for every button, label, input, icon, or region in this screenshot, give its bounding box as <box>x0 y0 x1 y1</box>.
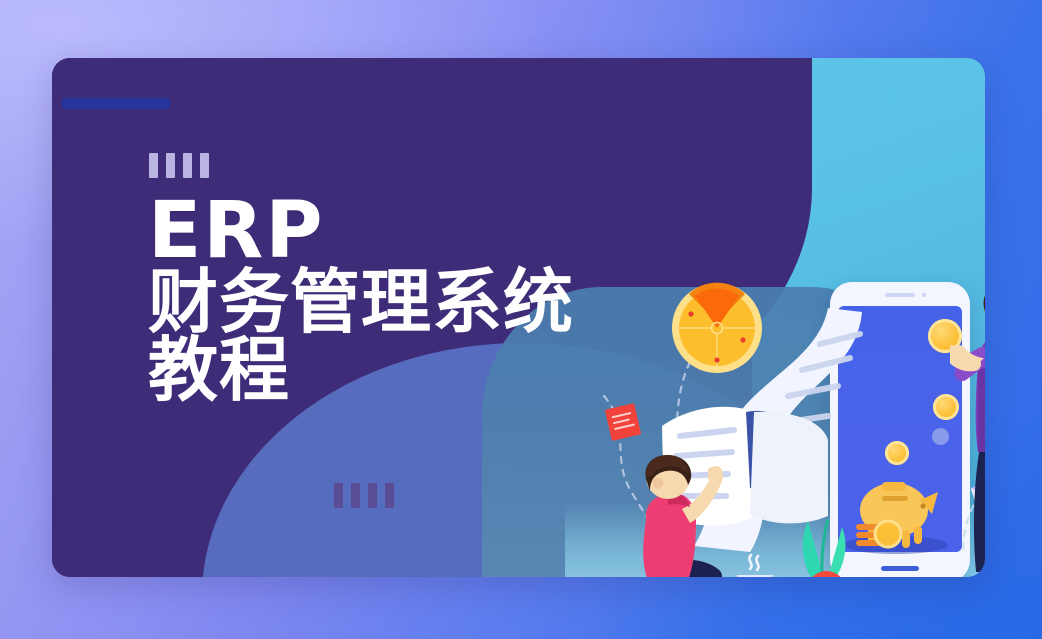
dash-marks-middle <box>334 483 394 508</box>
dash-marks-top <box>149 153 209 178</box>
subtitle-line-2: 教程 <box>148 334 574 406</box>
page-title: ERP <box>148 194 574 268</box>
poster-headline: ERP 财务管理系统 教程 <box>148 194 574 406</box>
phone-receipt-slot <box>62 98 170 109</box>
poster-card: ERP 财务管理系统 教程 <box>52 58 985 577</box>
subtitle-line-1: 财务管理系统 <box>148 266 574 338</box>
phone-home-button <box>881 566 919 571</box>
phone-camera <box>922 293 926 297</box>
phone-speaker <box>885 293 915 297</box>
sticky-note-icon <box>605 403 641 441</box>
pie-gauge-icon <box>669 280 765 376</box>
poster-canvas: ERP 财务管理系统 教程 <box>0 0 1042 639</box>
bubble-decoration <box>932 428 949 445</box>
person-sitting-icon <box>622 453 737 577</box>
person-standing-icon <box>950 280 985 577</box>
